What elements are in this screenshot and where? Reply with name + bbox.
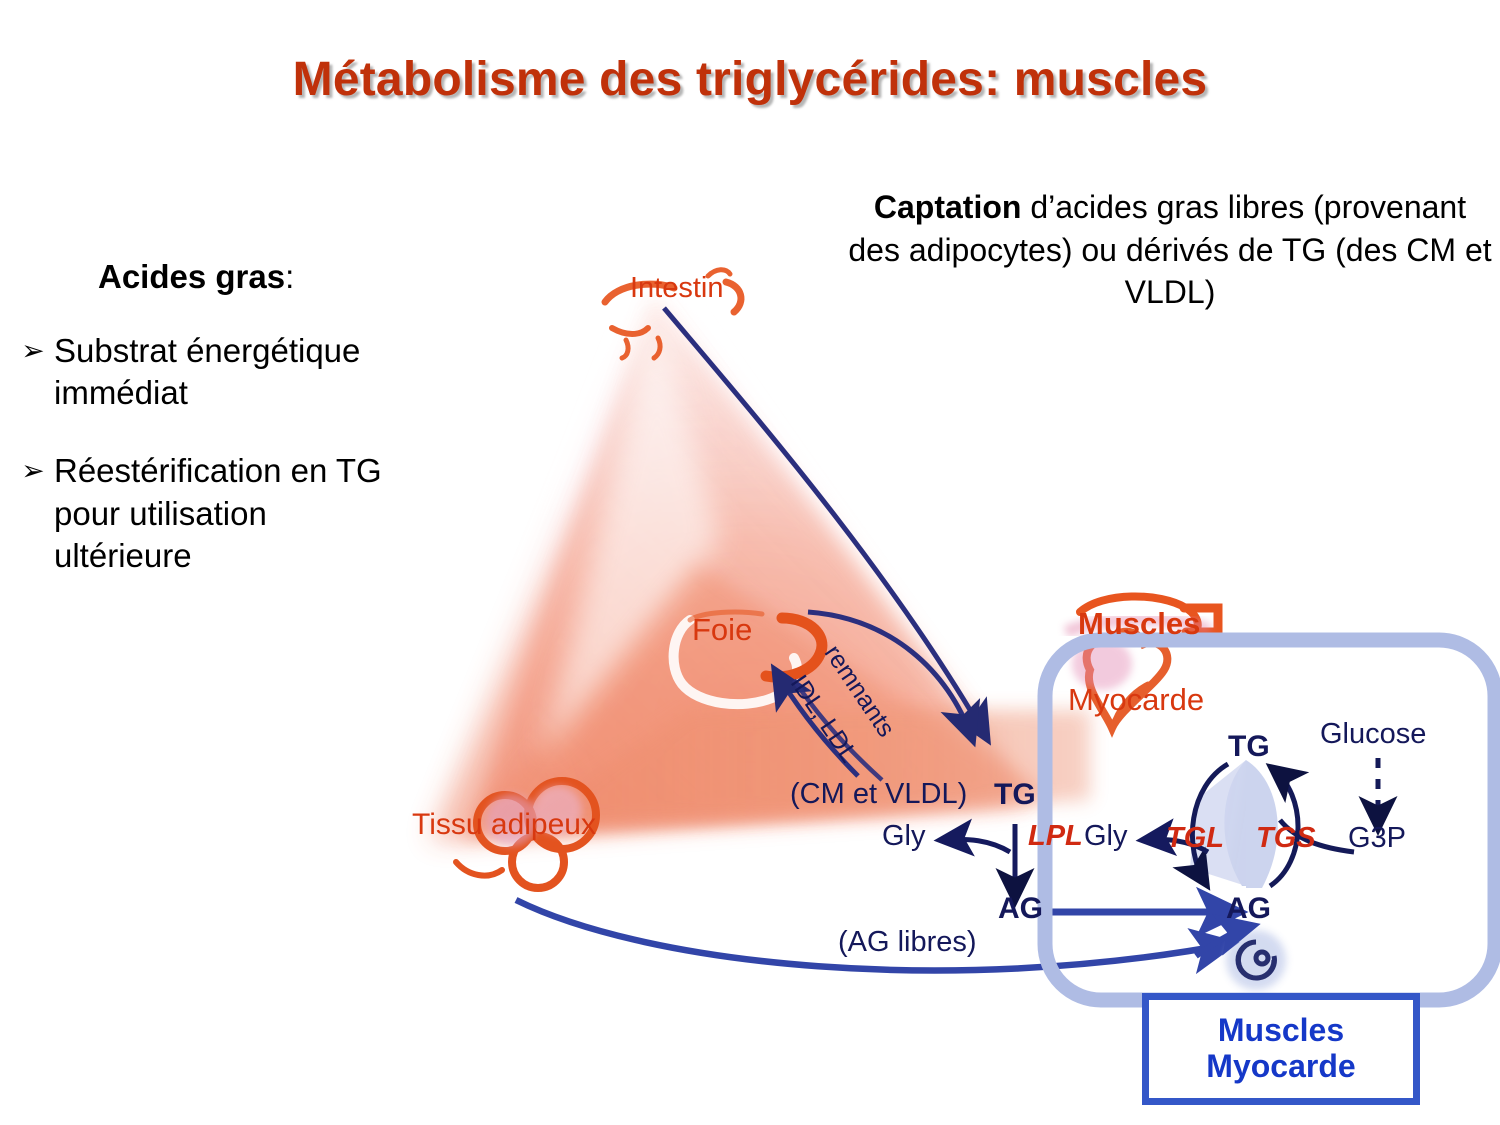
enzyme-label-lpl: LPL [1028, 820, 1083, 853]
organ-label-myocarde: Myocarde [1068, 682, 1204, 718]
right-panel-lead: Captation [874, 189, 1022, 225]
mitochondrion-spiral [1226, 930, 1286, 990]
enzyme-label-tgl: TGL [1166, 822, 1224, 855]
diagram-graphics [390, 240, 1500, 1030]
organ-label-tissu-adipeux: Tissu adipeux [412, 808, 596, 842]
cell-label-gly: Gly [1084, 820, 1128, 853]
callout-box: Muscles Myocarde [1142, 993, 1420, 1105]
pathway-label-plasma-ag: AG [998, 892, 1043, 926]
bullet-arrow-icon: ➢ [12, 330, 54, 369]
callout-line-1: Muscles [1218, 1013, 1344, 1049]
left-panel-heading: Acides gras: [98, 258, 294, 296]
organ-label-muscles: Muscles [1078, 606, 1200, 642]
callout-line-2: Myocarde [1206, 1049, 1355, 1085]
list-item: ➢ Substrat énergétique immédiat [12, 330, 402, 414]
organ-label-intestin: Intestin [630, 272, 724, 305]
enzyme-label-tgs: TGS [1256, 822, 1316, 855]
page-title: Métabolisme des triglycérides: muscles [0, 52, 1500, 107]
list-item: ➢ Réestérification en TG pour utilisatio… [12, 450, 402, 577]
bullet-arrow-icon: ➢ [12, 450, 54, 489]
cell-label-g3p: G3P [1348, 822, 1406, 855]
bullet-text: Substrat énergétique immédiat [54, 330, 402, 414]
organ-label-foie: Foie [692, 612, 752, 648]
pathway-label-ag-libres: (AG libres) [838, 926, 977, 959]
slide-root: Métabolisme des triglycérides: muscles A… [0, 0, 1500, 1125]
left-heading-bold: Acides gras [98, 258, 285, 295]
left-panel-bullets: ➢ Substrat énergétique immédiat ➢ Réesté… [12, 330, 402, 613]
arrow-tg-to-gly [942, 839, 1010, 852]
pathway-label-plasma-gly: Gly [882, 820, 926, 853]
cell-label-glucose: Glucose [1320, 718, 1426, 751]
left-heading-colon: : [285, 258, 294, 295]
metabolism-diagram: Intestin Foie Tissu adipeux Muscles Myoc… [390, 240, 1500, 1030]
pathway-label-cm-vldl: (CM et VLDL) [790, 778, 967, 811]
cell-label-tg: TG [1228, 730, 1270, 764]
pathway-label-plasma-tg: TG [994, 778, 1036, 812]
cell-label-ag: AG [1226, 892, 1271, 926]
bullet-text: Réestérification en TG pour utilisation … [54, 450, 402, 577]
